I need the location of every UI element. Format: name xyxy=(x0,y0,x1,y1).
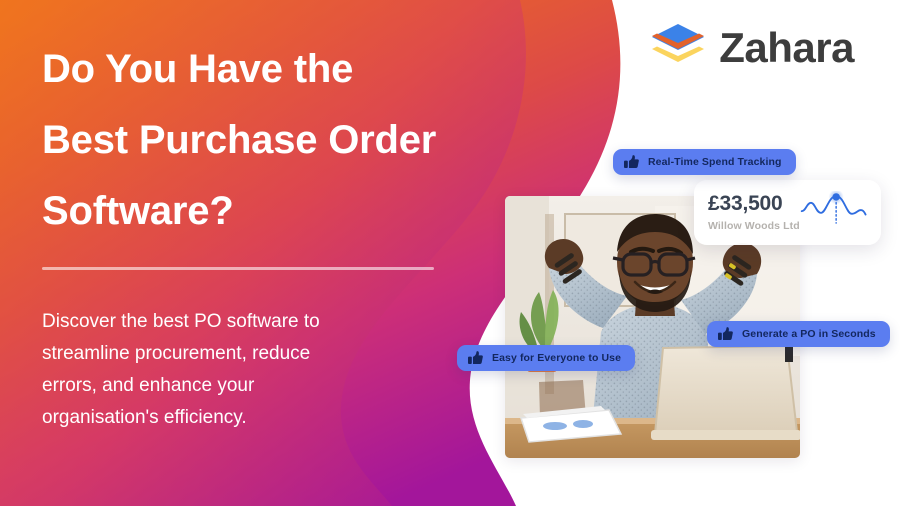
thumbs-up-icon xyxy=(468,351,483,365)
badge-label: Real-Time Spend Tracking xyxy=(648,156,782,168)
headline-line-1: Do You Have the xyxy=(42,34,542,105)
brand-wordmark: Zahara xyxy=(719,27,854,69)
brand-logo[interactable]: Zahara xyxy=(650,22,854,74)
spend-amount: £33,500 xyxy=(708,193,800,215)
hero-banner: Do You Have the Best Purchase Order Soft… xyxy=(0,0,900,506)
subcopy-line-1: Discover the best PO software to xyxy=(42,306,402,338)
hero-subcopy: Discover the best PO software to streaml… xyxy=(42,306,402,434)
divider xyxy=(42,267,434,270)
subcopy-line-3: errors, and enhance your xyxy=(42,370,402,402)
spend-summary-card: £33,500 Willow Woods Ltd xyxy=(694,180,881,245)
thumbs-up-icon xyxy=(624,155,639,169)
line-chart-peak-icon xyxy=(800,191,867,235)
hero-copy: Do You Have the Best Purchase Order Soft… xyxy=(42,34,542,453)
badge-real-time-spend-tracking[interactable]: Real-Time Spend Tracking xyxy=(613,149,796,175)
subcopy-line-4: organisation's efficiency. xyxy=(42,402,402,434)
page-title: Do You Have the Best Purchase Order Soft… xyxy=(42,34,542,247)
badge-easy-for-everyone-to-use[interactable]: Easy for Everyone to Use xyxy=(457,345,635,371)
headline-line-2: Best Purchase Order xyxy=(42,105,542,176)
stacked-layers-icon xyxy=(650,22,706,74)
spend-company-name: Willow Woods Ltd xyxy=(708,220,800,232)
spend-card-text: £33,500 Willow Woods Ltd xyxy=(708,193,800,231)
headline-line-3: Software? xyxy=(42,176,542,247)
badge-label: Easy for Everyone to Use xyxy=(492,352,621,364)
subcopy-line-2: streamline procurement, reduce xyxy=(42,338,402,370)
thumbs-up-icon xyxy=(718,327,733,341)
badge-label: Generate a PO in Seconds xyxy=(742,328,876,340)
badge-generate-a-po-in-seconds[interactable]: Generate a PO in Seconds xyxy=(707,321,890,347)
